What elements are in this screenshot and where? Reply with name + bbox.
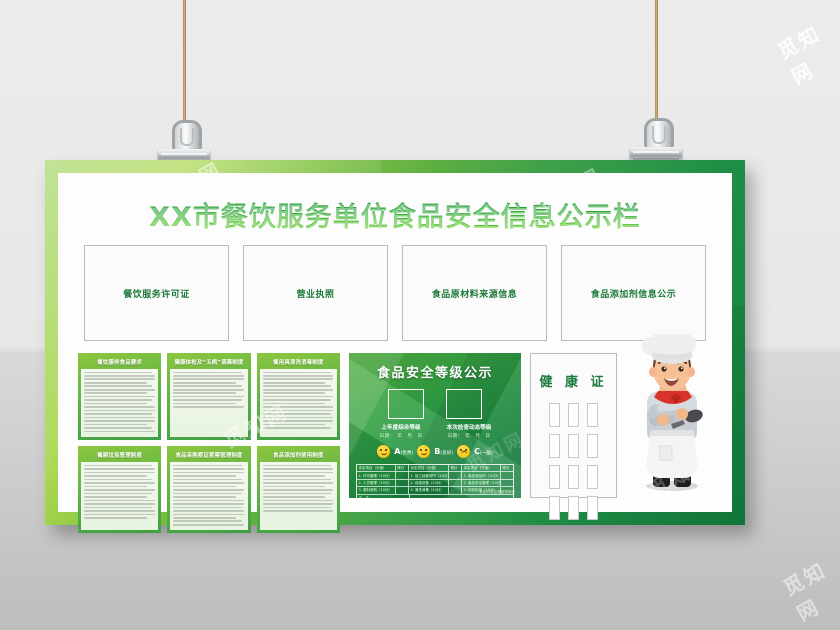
grade-date-label: 日期： 年 月 日 — [441, 433, 497, 439]
regulation-text-line — [84, 413, 152, 415]
health-panel-title: 健 康 证 — [531, 371, 616, 390]
health-certificate-slot[interactable] — [587, 434, 598, 458]
regulation-text-line — [263, 372, 331, 374]
grade-caption-row: 上年度综合等级 日期： 年 月 日 本次检查动态等级 日期： 年 月 日 — [349, 423, 521, 439]
grade-slot-row — [349, 389, 521, 419]
smile-face-icon — [417, 445, 430, 458]
regulation-text-line — [84, 427, 152, 429]
regulation-text-line — [84, 472, 155, 474]
flat-face-icon — [457, 445, 470, 458]
regulation-card-grid: 餐饮服务食品要求 健康体检及“五病”调离制度 餐用具清洗消毒制度 餐厨垃圾管理制… — [78, 353, 340, 498]
cert-box-label: 食品添加剂信息公示 — [591, 287, 677, 300]
grade-table-cell[interactable] — [501, 480, 513, 486]
regulation-text-line — [263, 378, 334, 380]
regulation-text-line — [263, 503, 334, 505]
regulation-title: 餐用具清洗消毒制度 — [260, 356, 337, 369]
regulation-text-line — [84, 378, 155, 380]
health-certificate-slot[interactable] — [568, 465, 579, 489]
lower-section: 餐饮服务食品要求 健康体检及“五病”调离制度 餐用具清洗消毒制度 餐厨垃圾管理制… — [78, 353, 718, 498]
regulation-text-line — [84, 431, 155, 433]
board-inner-surface: XX市餐饮服务单位食品安全信息公示栏 餐饮服务许可证 营业执照 食品原材料来源信… — [58, 173, 732, 512]
health-certificate-slot[interactable] — [549, 496, 560, 520]
regulation-text-line — [173, 396, 244, 398]
regulation-title: 食品添加剂使用制度 — [260, 449, 337, 462]
grade-table-cell: 得分 — [449, 465, 462, 471]
grade-table-cell: 3. 清洗消毒（10分） — [409, 487, 449, 493]
grade-table-cell[interactable] — [449, 472, 462, 478]
grade-table-cell: 2. 设施设备（10分） — [409, 480, 449, 486]
regulation-body — [260, 462, 337, 531]
regulation-text-line — [173, 517, 236, 519]
regulation-card[interactable]: 餐饮服务食品要求 — [78, 353, 161, 440]
regulation-text-line — [263, 382, 326, 384]
regulation-text-line — [173, 468, 244, 470]
regulation-text-line — [84, 500, 155, 502]
page-title: XX市餐饮服务单位食品安全信息公示栏 — [58, 195, 732, 234]
grade-slot-current[interactable] — [446, 389, 482, 419]
grade-table-row: 2. 人员管理（10分）2. 设施设备（10分）2. 食品安全管理（10分） — [357, 480, 513, 487]
regulation-text-line — [84, 486, 147, 488]
grade-table-cell: 评定项目（分值） — [462, 465, 501, 471]
health-certificate-slot[interactable] — [587, 496, 598, 520]
regulation-text-line — [84, 417, 155, 419]
regulation-text-line — [173, 378, 244, 380]
regulation-text-line — [263, 406, 334, 408]
regulation-text-line — [84, 420, 155, 422]
laughing-face-icon — [377, 445, 390, 458]
grade-table-cell[interactable] — [396, 487, 409, 493]
regulation-text-line — [173, 503, 244, 505]
regulation-text-line — [173, 510, 244, 512]
regulation-text-line — [263, 399, 331, 401]
watermark: 觅知网 — [772, 12, 840, 90]
grade-table-row: 评定项目（分值）得分评定项目（分值）得分评定项目（分值）得分 — [357, 465, 513, 472]
grade-table-cell: 得分 — [501, 465, 513, 471]
regulation-card[interactable]: 食品添加剂使用制度 — [257, 446, 340, 533]
regulation-text-line — [263, 507, 331, 509]
binder-clip-right — [630, 118, 682, 164]
regulation-text-line — [263, 420, 334, 422]
grade-table-cell: 2. 人员管理（10分） — [357, 480, 396, 486]
information-board: XX市餐饮服务单位食品安全信息公示栏 餐饮服务许可证 营业执照 食品原材料来源信… — [45, 160, 745, 525]
grade-desc: (一般) — [480, 451, 493, 456]
grade-table-row: 1. 许可管理（10分）1. 加工经营场所（10分）1. 食品添加剂（10分） — [357, 472, 513, 479]
regulation-text-line — [263, 403, 326, 405]
regulation-text-line — [263, 482, 334, 484]
regulation-text-line — [263, 486, 326, 488]
grade-table-cell[interactable] — [396, 480, 409, 486]
health-certificate-panel: 健 康 证 — [530, 353, 617, 498]
regulation-text-line — [173, 475, 236, 477]
regulation-text-line — [263, 392, 326, 394]
regulation-text-line — [173, 392, 236, 394]
regulation-text-line — [263, 479, 331, 481]
regulation-text-line — [84, 406, 155, 408]
regulation-text-line — [173, 507, 241, 509]
regulation-text-line — [173, 403, 236, 405]
regulation-text-line — [173, 472, 244, 474]
regulation-text-line — [263, 510, 334, 512]
regulation-text-line — [173, 375, 244, 377]
grade-date-label: 日期： 年 月 日 — [373, 433, 429, 439]
regulation-text-line — [173, 482, 244, 484]
regulation-text-line — [84, 375, 155, 377]
grade-table-cell: 合 计 — [357, 495, 410, 498]
regulation-body — [81, 369, 158, 438]
regulation-text-line — [84, 514, 155, 516]
regulation-text-line — [263, 465, 331, 467]
regulation-text-line — [84, 392, 147, 394]
health-certificate-grid — [549, 403, 598, 520]
grade-caption-text: 上年度综合等级 — [373, 423, 429, 431]
regulation-text-line — [173, 372, 241, 374]
cert-box-additive-disclosure[interactable]: 食品添加剂信息公示 — [561, 245, 706, 341]
regulation-text-line — [263, 396, 334, 398]
regulation-text-line — [263, 489, 334, 491]
regulation-text-line — [84, 503, 155, 505]
regulation-text-line — [84, 493, 152, 495]
grade-table-cell[interactable] — [396, 472, 409, 478]
regulation-text-line — [84, 385, 152, 387]
grade-caption-current: 本次检查动态等级 日期： 年 月 日 — [441, 423, 497, 439]
regulation-body — [260, 369, 337, 438]
regulation-text-line — [173, 406, 244, 408]
regulation-text-line — [173, 493, 241, 495]
chef-figure-icon — [626, 334, 718, 494]
health-certificate-slot[interactable] — [549, 403, 560, 427]
health-certificate-slot[interactable] — [568, 403, 579, 427]
regulation-text-line — [263, 375, 334, 377]
regulation-text-line — [173, 399, 241, 401]
grade-table-cell: 1. 许可管理（10分） — [357, 472, 396, 478]
clip-handle-icon — [172, 120, 202, 149]
clip-handle-icon — [644, 118, 674, 147]
regulation-card[interactable]: 餐用具清洗消毒制度 — [257, 353, 340, 440]
regulation-text-line — [173, 465, 241, 467]
regulation-text-line — [84, 482, 155, 484]
grade-table-cell[interactable] — [410, 495, 513, 498]
regulation-text-line — [263, 413, 331, 415]
grade-legend-b: B(良好) — [434, 447, 453, 456]
regulation-text-line — [263, 424, 326, 426]
regulation-body — [170, 462, 247, 531]
grade-table-cell[interactable] — [449, 487, 462, 493]
regulation-body — [170, 369, 247, 438]
grade-legend-c: C(一般) — [474, 447, 493, 456]
cert-box-label: 食品原材料来源信息 — [432, 287, 518, 300]
regulation-text-line — [84, 382, 147, 384]
regulation-text-line — [84, 489, 155, 491]
grade-table-cell: 1. 食品添加剂（10分） — [462, 472, 501, 478]
health-certificate-slot[interactable] — [568, 496, 579, 520]
grade-slot-previous[interactable] — [388, 389, 424, 419]
regulation-text-line — [84, 496, 147, 498]
regulation-text-line — [84, 424, 147, 426]
regulation-text-line — [263, 475, 326, 477]
regulation-card[interactable]: 食品采购索证索票管理制度 — [167, 446, 250, 533]
regulation-text-line — [173, 486, 236, 488]
grade-caption-previous: 上年度综合等级 日期： 年 月 日 — [373, 423, 429, 439]
regulation-text-line — [173, 500, 244, 502]
regulation-title: 健康体检及“五病”调离制度 — [170, 356, 247, 369]
grade-panel-signature: 食品药品监督管理局制 — [479, 490, 515, 495]
certificate-box-row: 餐饮服务许可证 营业执照 食品原材料来源信息 食品添加剂信息公示 — [84, 245, 706, 341]
grade-table-cell: 2. 食品安全管理（10分） — [462, 480, 501, 486]
grade-table-row: 合 计 — [357, 495, 513, 498]
regulation-text-line — [263, 427, 331, 429]
health-certificate-slot[interactable] — [568, 434, 579, 458]
regulation-text-line — [173, 489, 244, 491]
grade-table-cell: 评定项目（分值） — [409, 465, 449, 471]
regulation-text-line — [173, 479, 241, 481]
regulation-text-line — [263, 385, 331, 387]
regulation-text-line — [263, 496, 326, 498]
watermark: 觅知网 — [777, 551, 840, 627]
grade-table-cell: 得分 — [396, 465, 409, 471]
regulation-text-line — [84, 468, 155, 470]
regulation-text-line — [84, 510, 155, 512]
regulation-title: 食品采购索证索票管理制度 — [170, 449, 247, 462]
regulation-text-line — [84, 475, 147, 477]
regulation-text-line — [84, 372, 152, 374]
grade-caption-text: 本次检查动态等级 — [441, 423, 497, 431]
regulation-text-line — [173, 520, 241, 522]
grade-table-cell: 评定项目（分值） — [357, 465, 396, 471]
regulation-title: 餐厨垃圾管理制度 — [81, 449, 158, 462]
grade-legend-row: A(优秀) B(良好) C(一般) — [349, 445, 521, 458]
grade-table-cell[interactable] — [501, 472, 513, 478]
regulation-text-line — [263, 417, 334, 419]
health-certificate-slot[interactable] — [587, 403, 598, 427]
cert-box-label: 餐饮服务许可证 — [123, 287, 190, 300]
grade-panel-title: 食品安全等级公示 — [349, 362, 521, 381]
regulation-title: 餐饮服务食品要求 — [81, 356, 158, 369]
grade-table-cell[interactable] — [449, 480, 462, 486]
regulation-text-line — [173, 514, 244, 516]
regulation-text-line — [84, 399, 152, 401]
regulation-card[interactable]: 餐厨垃圾管理制度 — [78, 446, 161, 533]
regulation-text-line — [263, 493, 331, 495]
regulation-text-line — [263, 468, 334, 470]
regulation-text-line — [84, 465, 152, 467]
hanging-rope-left — [183, 0, 186, 135]
regulation-text-line — [84, 389, 155, 391]
food-safety-grade-panel: 食品安全等级公示 上年度综合等级 日期： 年 月 日 本次检查动态等级 日期： … — [349, 353, 521, 498]
grade-table-cell: 1. 加工经营场所（10分） — [409, 472, 449, 478]
regulation-text-line — [263, 410, 334, 412]
regulation-card[interactable]: 健康体检及“五病”调离制度 — [167, 353, 250, 440]
cert-box-ingredient-source[interactable]: 食品原材料来源信息 — [402, 245, 547, 341]
regulation-text-line — [173, 524, 244, 526]
regulation-text-line — [84, 396, 155, 398]
chef-illustration — [626, 353, 718, 498]
regulation-text-line — [173, 385, 241, 387]
grade-table-cell: 3. 原料采购（10分） — [357, 487, 396, 493]
grade-desc: (优秀) — [400, 451, 413, 456]
health-certificate-slot[interactable] — [549, 434, 560, 458]
regulation-text-line — [173, 382, 236, 384]
regulation-text-line — [84, 410, 155, 412]
cert-box-permit[interactable]: 餐饮服务许可证 — [84, 245, 229, 341]
cert-box-license[interactable]: 营业执照 — [243, 245, 388, 341]
grade-desc: (良好) — [440, 451, 453, 456]
regulation-text-line — [263, 472, 334, 474]
regulation-text-line — [173, 389, 244, 391]
health-certificate-slot[interactable] — [549, 465, 560, 489]
regulation-text-line — [84, 479, 152, 481]
regulation-text-line — [84, 403, 147, 405]
health-certificate-slot[interactable] — [587, 465, 598, 489]
regulation-text-line — [84, 507, 152, 509]
grade-legend-a: A(优秀) — [394, 447, 413, 456]
regulation-text-line — [263, 389, 334, 391]
regulation-text-line — [84, 517, 147, 519]
cert-box-label: 营业执照 — [296, 287, 334, 300]
regulation-body — [81, 462, 158, 531]
regulation-text-line — [173, 496, 236, 498]
hanging-rope-right — [655, 0, 658, 133]
regulation-text-line — [263, 500, 334, 502]
